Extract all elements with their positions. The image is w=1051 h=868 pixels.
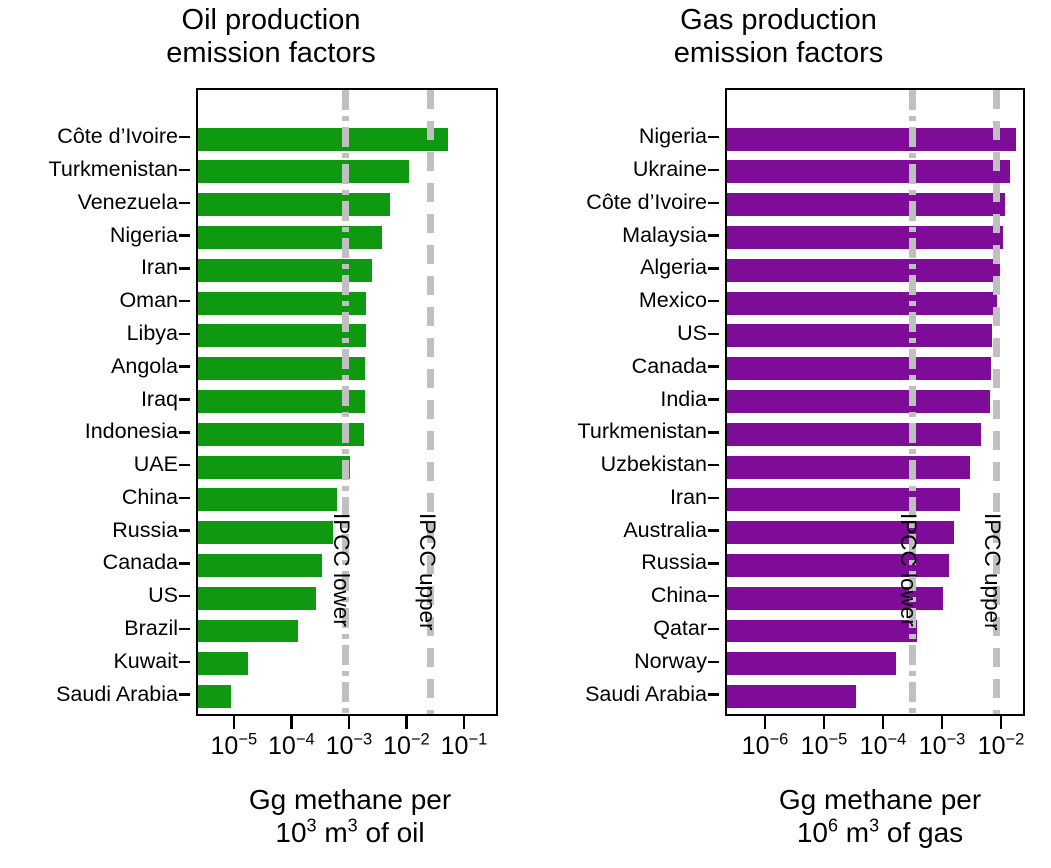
gas-x-axis-title: Gg methane per 106 m3 of gas — [680, 783, 1051, 849]
category-label-russia: Russia — [641, 552, 707, 574]
x-tick-label: 10−6 — [742, 731, 789, 761]
x-tick — [941, 716, 944, 729]
category-tick — [708, 464, 719, 467]
x-tick-label: 10−4 — [860, 731, 907, 761]
oil-x-axis-title-line1: Gg methane per — [150, 783, 550, 816]
category-tick — [179, 267, 190, 270]
x-tick — [348, 716, 351, 729]
category-label-c-te-d-ivoire: Côte d’Ivoire — [57, 126, 178, 148]
category-label-saudi-arabia: Saudi Arabia — [585, 684, 707, 706]
x-tick-label: 10−1 — [441, 731, 488, 761]
category-tick — [179, 497, 190, 500]
category-label-iran: Iran — [670, 487, 707, 509]
oil-x-tick-labels: 10−510−410−310−210−1 — [196, 731, 498, 771]
category-tick — [708, 136, 719, 139]
category-label-turkmenistan: Turkmenistan — [578, 421, 707, 443]
x-tick-label: 10−2 — [978, 731, 1025, 761]
gas-reflabel-ipcc-upper: IPCC upper — [979, 513, 1005, 631]
category-tick — [179, 300, 190, 303]
category-tick — [179, 562, 190, 565]
x-tick-label: 10−4 — [268, 731, 315, 761]
category-tick — [708, 333, 719, 336]
category-label-algeria: Algeria — [640, 257, 707, 279]
category-label-iraq: Iraq — [141, 389, 178, 411]
x-tick-label: 10−3 — [326, 731, 373, 761]
category-label-canada: Canada — [632, 356, 707, 378]
gas-x-axis-title-line1: Gg methane per — [680, 783, 1051, 816]
category-label-india: India — [660, 389, 707, 411]
category-label-iran: Iran — [141, 257, 178, 279]
category-tick — [708, 661, 719, 664]
category-tick — [179, 136, 190, 139]
category-tick — [708, 497, 719, 500]
x-tick-label: 10−2 — [383, 731, 430, 761]
panel-oil-title: Oil production emission factors — [0, 4, 520, 70]
x-tick — [405, 716, 408, 729]
category-label-nigeria: Nigeria — [639, 126, 707, 148]
category-tick — [179, 431, 190, 434]
category-label-oman: Oman — [119, 290, 178, 312]
category-label-angola: Angola — [111, 356, 178, 378]
category-tick — [179, 464, 190, 467]
category-tick — [708, 562, 719, 565]
panel-gas-title-line2: emission factors — [520, 37, 1037, 70]
category-label-mexico: Mexico — [639, 290, 707, 312]
category-label-indonesia: Indonesia — [85, 421, 178, 443]
category-tick — [179, 169, 190, 172]
category-tick — [179, 595, 190, 598]
category-label-china: China — [122, 487, 178, 509]
category-tick — [708, 267, 719, 270]
category-label-australia: Australia — [623, 520, 707, 542]
x-tick — [764, 716, 767, 729]
category-label-canada: Canada — [103, 552, 178, 574]
category-tick — [708, 398, 719, 401]
category-tick — [179, 365, 190, 368]
oil-x-ticks — [196, 716, 498, 730]
category-tick — [179, 628, 190, 631]
x-tick — [823, 716, 826, 729]
category-tick — [708, 202, 719, 205]
category-label-qatar: Qatar — [653, 618, 707, 640]
x-tick-label: 10−5 — [801, 731, 848, 761]
category-label-c-te-d-ivoire: Côte d’Ivoire — [586, 192, 707, 214]
category-label-china: China — [651, 585, 707, 607]
category-tick — [179, 693, 190, 696]
category-tick — [179, 202, 190, 205]
gas-x-ticks — [725, 716, 1025, 730]
category-label-russia: Russia — [112, 520, 178, 542]
category-label-uae: UAE — [134, 454, 178, 476]
category-label-norway: Norway — [634, 651, 707, 673]
category-tick — [708, 693, 719, 696]
oil-plot-area: IPCC lowerIPCC upper — [196, 88, 498, 716]
panel-gas-title-line1: Gas production — [520, 4, 1037, 37]
category-tick — [179, 398, 190, 401]
gas-reflabel-ipcc-lower: IPCC lower — [895, 513, 921, 627]
x-tick — [290, 716, 293, 729]
panel-oil-production: Oil production emission factors Côte d’I… — [0, 0, 520, 868]
category-label-saudi-arabia: Saudi Arabia — [56, 684, 178, 706]
category-label-kuwait: Kuwait — [113, 651, 178, 673]
oil-reflabel-ipcc-upper: IPCC upper — [414, 513, 440, 631]
oil-x-axis-title: Gg methane per 103 m3 of oil — [150, 783, 550, 849]
x-tick-label: 10−3 — [919, 731, 966, 761]
panel-oil-title-line1: Oil production — [22, 4, 520, 37]
category-tick — [708, 234, 719, 237]
category-label-brazil: Brazil — [124, 618, 178, 640]
x-tick — [233, 716, 236, 729]
category-tick — [708, 300, 719, 303]
panel-oil-title-line2: emission factors — [22, 37, 520, 70]
gas-x-axis-title-line2: 106 m3 of gas — [680, 816, 1051, 849]
category-label-venezuela: Venezuela — [78, 192, 178, 214]
category-tick — [179, 529, 190, 532]
gas-category-axis: NigeriaUkraineCôte d’IvoireMalaysiaAlger… — [525, 88, 719, 716]
x-tick — [882, 716, 885, 729]
panel-gas-title: Gas production emission factors — [520, 4, 1051, 70]
category-tick — [708, 365, 719, 368]
category-label-turkmenistan: Turkmenistan — [49, 159, 178, 181]
category-label-us: US — [677, 323, 707, 345]
category-tick — [708, 431, 719, 434]
gas-plot-area: IPCC lowerIPCC upper — [725, 88, 1025, 716]
category-tick — [708, 529, 719, 532]
category-label-us: US — [148, 585, 178, 607]
gas-x-tick-labels: 10−610−510−410−310−2 — [725, 731, 1025, 771]
category-tick — [708, 169, 719, 172]
oil-x-axis-title-line2: 103 m3 of oil — [150, 816, 550, 849]
category-tick — [179, 234, 190, 237]
category-tick — [179, 661, 190, 664]
x-tick — [463, 716, 466, 729]
category-label-uzbekistan: Uzbekistan — [601, 454, 707, 476]
oil-reflabel-ipcc-lower: IPCC lower — [328, 513, 354, 627]
category-label-malaysia: Malaysia — [622, 225, 707, 247]
category-tick — [708, 595, 719, 598]
figure-root: Oil production emission factors Côte d’I… — [0, 0, 1051, 868]
category-label-nigeria: Nigeria — [110, 225, 178, 247]
category-tick — [708, 628, 719, 631]
oil-category-axis: Côte d’IvoireTurkmenistanVenezuelaNigeri… — [0, 88, 190, 716]
category-tick — [179, 333, 190, 336]
x-tick — [1000, 716, 1003, 729]
category-label-libya: Libya — [127, 323, 178, 345]
x-tick-label: 10−5 — [211, 731, 258, 761]
category-label-ukraine: Ukraine — [633, 159, 707, 181]
